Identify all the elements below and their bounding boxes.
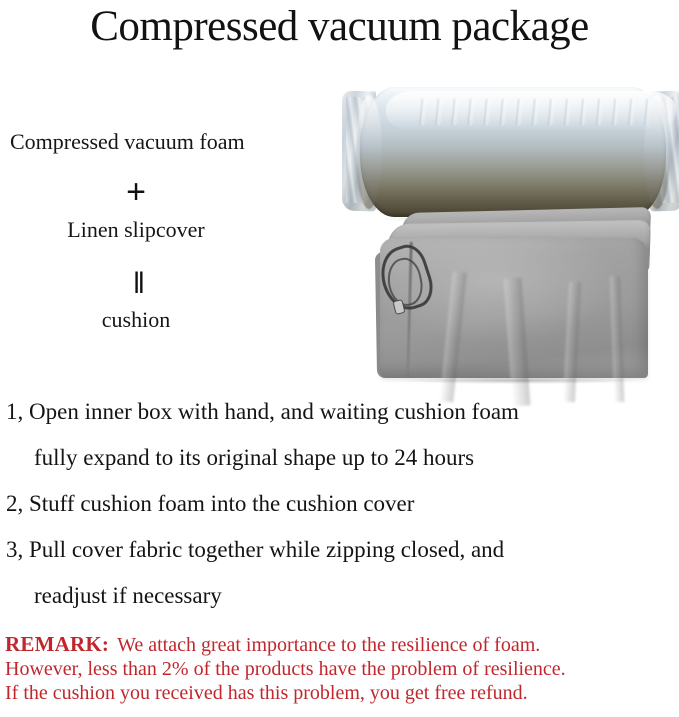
roll-end-right bbox=[644, 95, 670, 209]
formula-result-cushion: cushion bbox=[0, 306, 272, 334]
roll-end-left bbox=[356, 95, 382, 209]
remark-block: REMARK:We attach great importance to the… bbox=[5, 632, 675, 705]
fabric-crease-3 bbox=[563, 282, 581, 402]
fabric-crease-2 bbox=[504, 278, 531, 407]
instruction-list: 1, Open inner box with hand, and waiting… bbox=[6, 389, 674, 619]
remark-line-1: REMARK:We attach great importance to the… bbox=[5, 632, 675, 657]
folded-slipcover-image bbox=[372, 208, 662, 386]
formula-term-compressed-foam: Compressed vacuum foam bbox=[0, 128, 272, 156]
remark-line-3: If the cushion you received has this pro… bbox=[5, 681, 675, 705]
cover-drop-shadow bbox=[398, 377, 638, 384]
formula-term-linen-slipcover: Linen slipcover bbox=[0, 216, 272, 244]
roll-film-creases bbox=[412, 99, 660, 125]
instruction-step-1: 1, Open inner box with hand, and waiting… bbox=[6, 389, 674, 435]
instruction-step-3: 3, Pull cover fabric together while zipp… bbox=[6, 527, 674, 573]
instruction-step-1-continued: fully expand to its original shape up to… bbox=[6, 435, 674, 481]
remark-line-2: However, less than 2% of the products ha… bbox=[5, 657, 675, 681]
instruction-step-2: 2, Stuff cushion foam into the cushion c… bbox=[6, 481, 674, 527]
equals-icon: ‖ bbox=[0, 266, 272, 302]
page-title: Compressed vacuum package bbox=[0, 2, 679, 52]
cushion-formula: Compressed vacuum foam + Linen slipcover… bbox=[0, 128, 272, 334]
product-photo-group bbox=[330, 80, 679, 385]
remark-text-1: We attach great importance to the resili… bbox=[117, 634, 540, 656]
foam-roll-body bbox=[360, 87, 666, 217]
remark-label: REMARK: bbox=[5, 632, 109, 656]
instruction-step-3-continued: readjust if necessary bbox=[6, 573, 674, 619]
compressed-foam-roll-image bbox=[342, 87, 679, 219]
plus-icon: + bbox=[0, 174, 272, 210]
